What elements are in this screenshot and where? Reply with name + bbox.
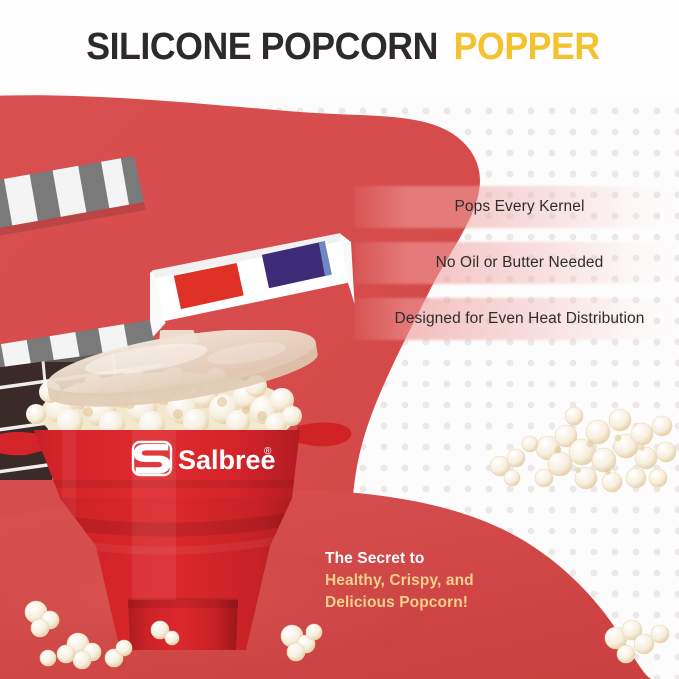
bowl-right-handle xyxy=(294,423,351,447)
popcorn-cluster-bottom-center xyxy=(270,614,350,679)
feature-label-1: Pops Every Kernel xyxy=(454,198,584,216)
feature-item-2: No Oil or Butter Needed xyxy=(360,242,679,284)
page-title: SILICONE POPCORN POPPER xyxy=(0,26,679,69)
title-accent: POPPER xyxy=(454,26,600,69)
feature-item-3: Designed for Even Heat Distribution xyxy=(360,298,679,340)
brand-s-mark xyxy=(133,442,171,475)
tagline-block: The Secret to Healthy, Crispy, and Delic… xyxy=(325,548,474,614)
popcorn-cluster-bottom-right xyxy=(600,614,679,679)
tagline-line-1: The Secret to xyxy=(325,548,474,570)
feature-list: Pops Every Kernel No Oil or Butter Neede… xyxy=(360,186,679,354)
feature-item-1: Pops Every Kernel xyxy=(360,186,679,228)
tagline-line-2: Healthy, Crispy, and xyxy=(325,570,474,592)
popcorn-stray-kernels xyxy=(146,612,206,662)
popcorn-cluster-bottom-left xyxy=(18,596,138,676)
feature-label-3: Designed for Even Heat Distribution xyxy=(395,310,645,328)
brand-name: Salbree xyxy=(178,445,276,475)
brand-registered-mark: ® xyxy=(264,446,272,457)
title-main: SILICONE POPCORN xyxy=(86,26,438,69)
feature-label-2: No Oil or Butter Needed xyxy=(436,254,604,272)
product-marketing-image: Salbree ® xyxy=(0,0,679,679)
brand-logo: Salbree ® xyxy=(133,442,276,475)
tagline-line-3: Delicious Popcorn! xyxy=(325,592,474,614)
bowl-base-fold xyxy=(128,598,238,608)
popcorn-cluster-right xyxy=(486,386,679,516)
